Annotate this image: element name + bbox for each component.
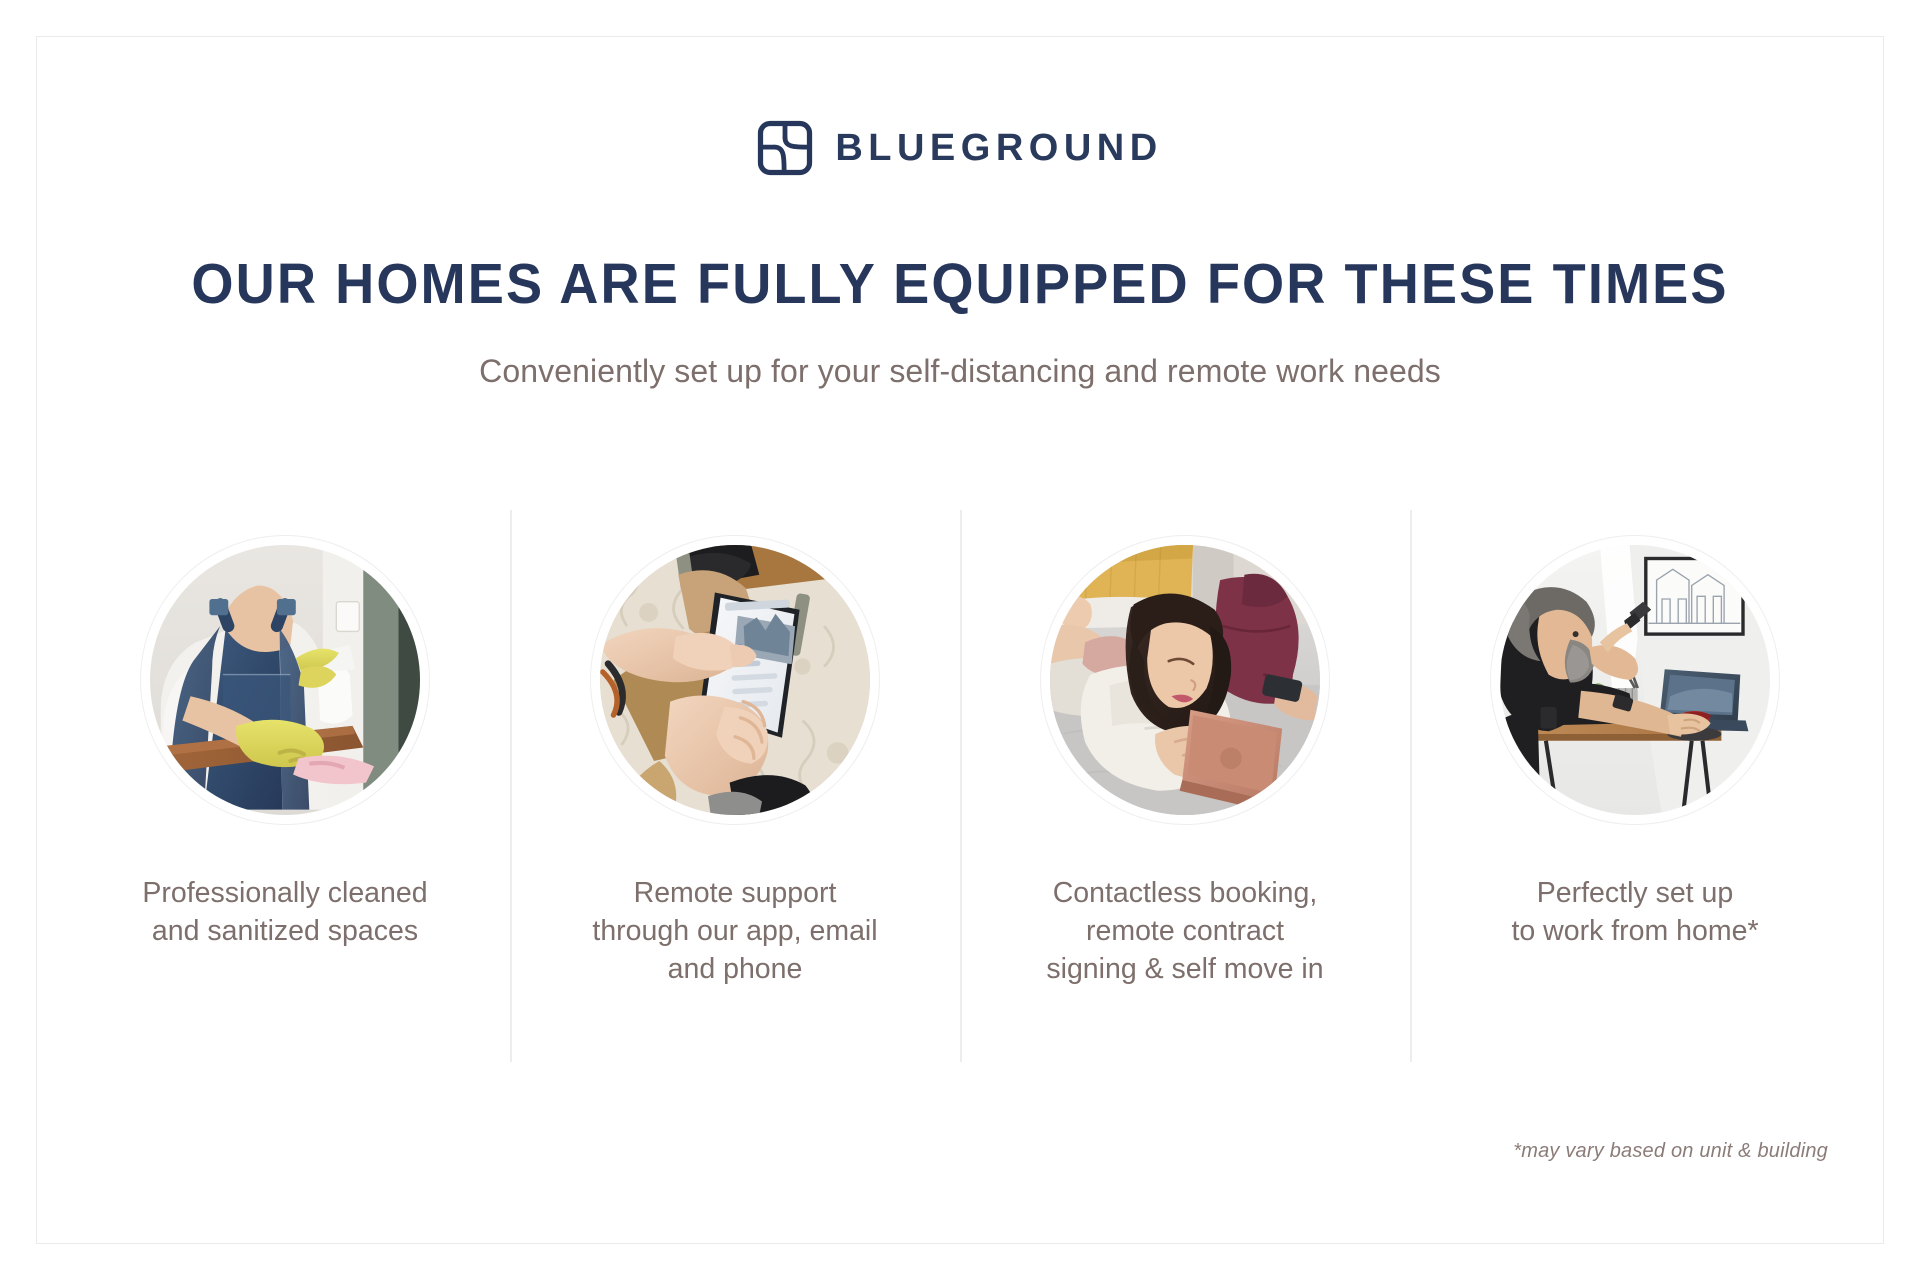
infographic-page: BLUEGROUND OUR HOMES ARE FULLY EQUIPPED … xyxy=(0,0,1920,1280)
brand-wordmark: BLUEGROUND xyxy=(835,129,1162,167)
brand-logo: BLUEGROUND xyxy=(0,120,1920,176)
feature-column-contactless-booking: Contactless booking, remote contract sig… xyxy=(960,510,1410,1062)
feature-image-frame-remote-support xyxy=(590,535,880,825)
feature-caption-remote-support: Remote support through our app, email an… xyxy=(570,875,900,989)
feature-caption-cleaning: Professionally cleaned and sanitized spa… xyxy=(120,875,450,951)
feature-caption-work-from-home: Perfectly set up to work from home* xyxy=(1470,875,1800,951)
feature-columns: Professionally cleaned and sanitized spa… xyxy=(60,510,1860,1062)
blueground-square-mark-icon xyxy=(757,120,813,176)
page-title: OUR HOMES ARE FULLY EQUIPPED FOR THESE T… xyxy=(48,255,1872,315)
feature-column-cleaning: Professionally cleaned and sanitized spa… xyxy=(60,510,510,1062)
feature-image-frame-work-from-home xyxy=(1490,535,1780,825)
feature-column-work-from-home: Perfectly set up to work from home* xyxy=(1410,510,1860,1062)
man-working-at-desk-photo xyxy=(1500,545,1770,815)
feature-image-frame-cleaning xyxy=(140,535,430,825)
hands-holding-smartphone-photo xyxy=(600,545,870,815)
page-subtitle: Conveniently set up for your self-distan… xyxy=(0,352,1920,390)
cleaner-wiping-counter-photo xyxy=(150,545,420,815)
feature-column-remote-support: Remote support through our app, email an… xyxy=(510,510,960,1062)
feature-caption-contactless-booking: Contactless booking, remote contract sig… xyxy=(1020,875,1350,989)
footnote-disclaimer: *may vary based on unit & building xyxy=(1513,1140,1828,1163)
feature-image-frame-contactless-booking xyxy=(1040,535,1330,825)
woman-on-bed-with-tablet-photo xyxy=(1050,545,1320,815)
